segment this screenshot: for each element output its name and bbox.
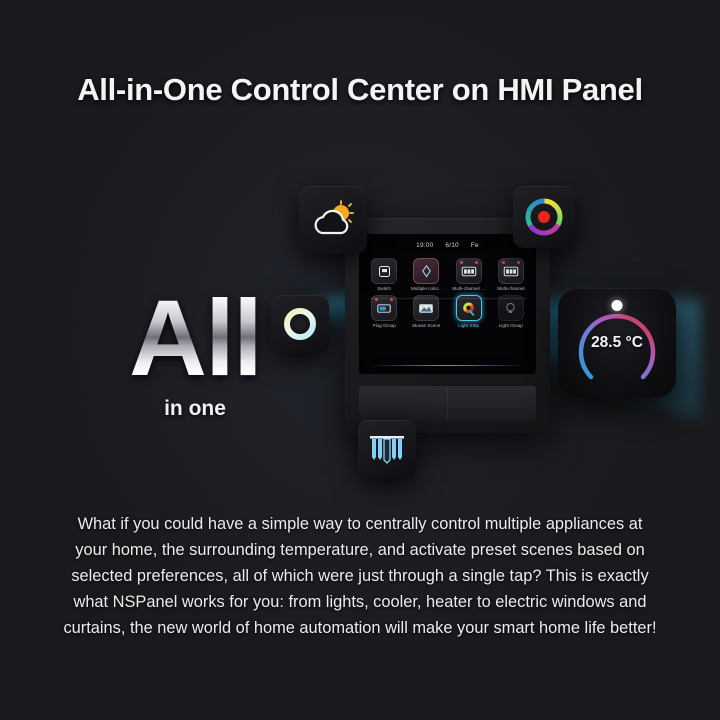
app-tile-mouse-scene[interactable]: Mouse Scene xyxy=(405,295,447,328)
thermostat-knob[interactable] xyxy=(612,300,623,311)
app-tile-plug-group[interactable]: Plug Group xyxy=(363,295,405,328)
app-tile-multi-channel-1[interactable]: Multi-channel ... xyxy=(448,258,490,291)
wordmark-in-one: in one xyxy=(95,397,295,421)
hmi-screen: 19:00 6/10 Fe Switch Multiple co xyxy=(359,234,536,374)
app-tile-light-group[interactable]: Light Group xyxy=(490,295,532,328)
badge-dot xyxy=(502,261,505,264)
thermostat-value: 28.5 °C xyxy=(591,334,643,352)
grid-divider xyxy=(369,298,526,299)
badge-dot xyxy=(475,261,478,264)
app-label: Light Strip xyxy=(458,323,479,328)
badge-dot xyxy=(517,261,520,264)
app-grid: Switch Multiple color... Mul xyxy=(363,258,532,328)
thermostat-dial[interactable]: 28.5 °C xyxy=(558,288,676,398)
switch-icon[interactable] xyxy=(371,258,397,284)
home-indicator xyxy=(369,365,526,366)
app-tile-multi-channel-2[interactable]: Multi-channel xyxy=(490,258,532,291)
status-date: 6/10 xyxy=(445,242,458,249)
weather-cloud-sun-icon[interactable] xyxy=(299,186,367,254)
multi-channel-switch-icon[interactable] xyxy=(498,258,524,284)
curtain-blinds-icon[interactable] xyxy=(358,420,416,478)
app-tile-light-strip[interactable]: Light Strip xyxy=(448,295,490,328)
app-label: Switch xyxy=(377,286,391,291)
app-label: Multi-channel xyxy=(497,286,524,291)
app-label: Mouse Scene xyxy=(412,323,440,328)
nspanel-device: 19:00 6/10 Fe Switch Multiple co xyxy=(345,218,550,433)
wordmark: All in one xyxy=(95,288,295,421)
multi-channel-switch-icon[interactable] xyxy=(456,258,482,284)
physical-button-row[interactable] xyxy=(359,386,536,421)
app-tile-switch[interactable]: Switch xyxy=(363,258,405,291)
physical-button-right[interactable] xyxy=(448,386,536,421)
physical-button-left[interactable] xyxy=(359,386,448,421)
status-bar: 19:00 6/10 Fe xyxy=(359,242,536,249)
app-label: Light Group xyxy=(499,323,523,328)
wordmark-all: All xyxy=(95,288,295,387)
app-tile-multiple-color[interactable]: Multiple color... xyxy=(405,258,447,291)
app-label: Plug Group xyxy=(373,323,396,328)
body-copy: What if you could have a simple way to c… xyxy=(62,512,658,642)
status-time: 19:00 xyxy=(416,242,433,249)
color-bulb-icon[interactable] xyxy=(413,258,439,284)
app-label: Multiple color... xyxy=(411,286,442,291)
status-weather: Fe xyxy=(471,242,479,249)
badge-dot xyxy=(460,261,463,264)
rgb-color-wheel-icon[interactable] xyxy=(513,186,575,248)
app-label: Multi-channel ... xyxy=(452,286,484,291)
